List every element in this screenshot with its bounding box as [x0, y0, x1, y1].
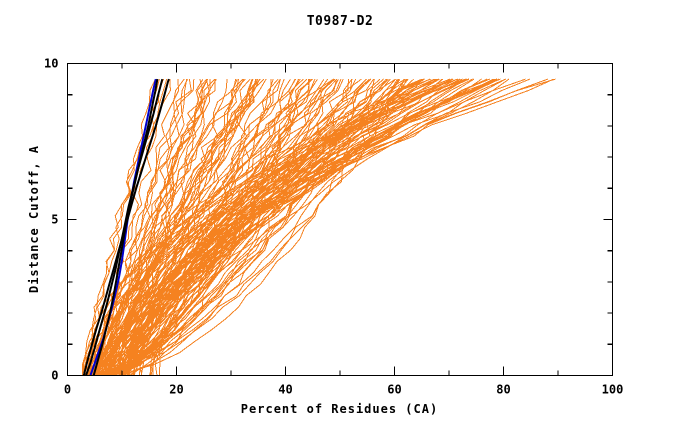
y-tick-label: 5 [51, 213, 58, 227]
x-tick-label: 100 [602, 383, 624, 397]
chart-page: T0987-D2 Distance Cutoff, A Percent of R… [0, 0, 680, 440]
y-tick-label: 10 [44, 57, 58, 71]
y-tick-label: 0 [51, 369, 58, 383]
x-tick-label: 0 [64, 383, 71, 397]
x-tick-label: 20 [169, 383, 183, 397]
x-tick-label: 60 [387, 383, 401, 397]
model-curve [151, 79, 474, 375]
plot-area: 0204060801000510 [0, 0, 680, 440]
x-tick-label: 80 [496, 383, 510, 397]
x-tick-label: 40 [278, 383, 292, 397]
model-curve [124, 79, 506, 375]
curve-bundle [82, 79, 555, 375]
